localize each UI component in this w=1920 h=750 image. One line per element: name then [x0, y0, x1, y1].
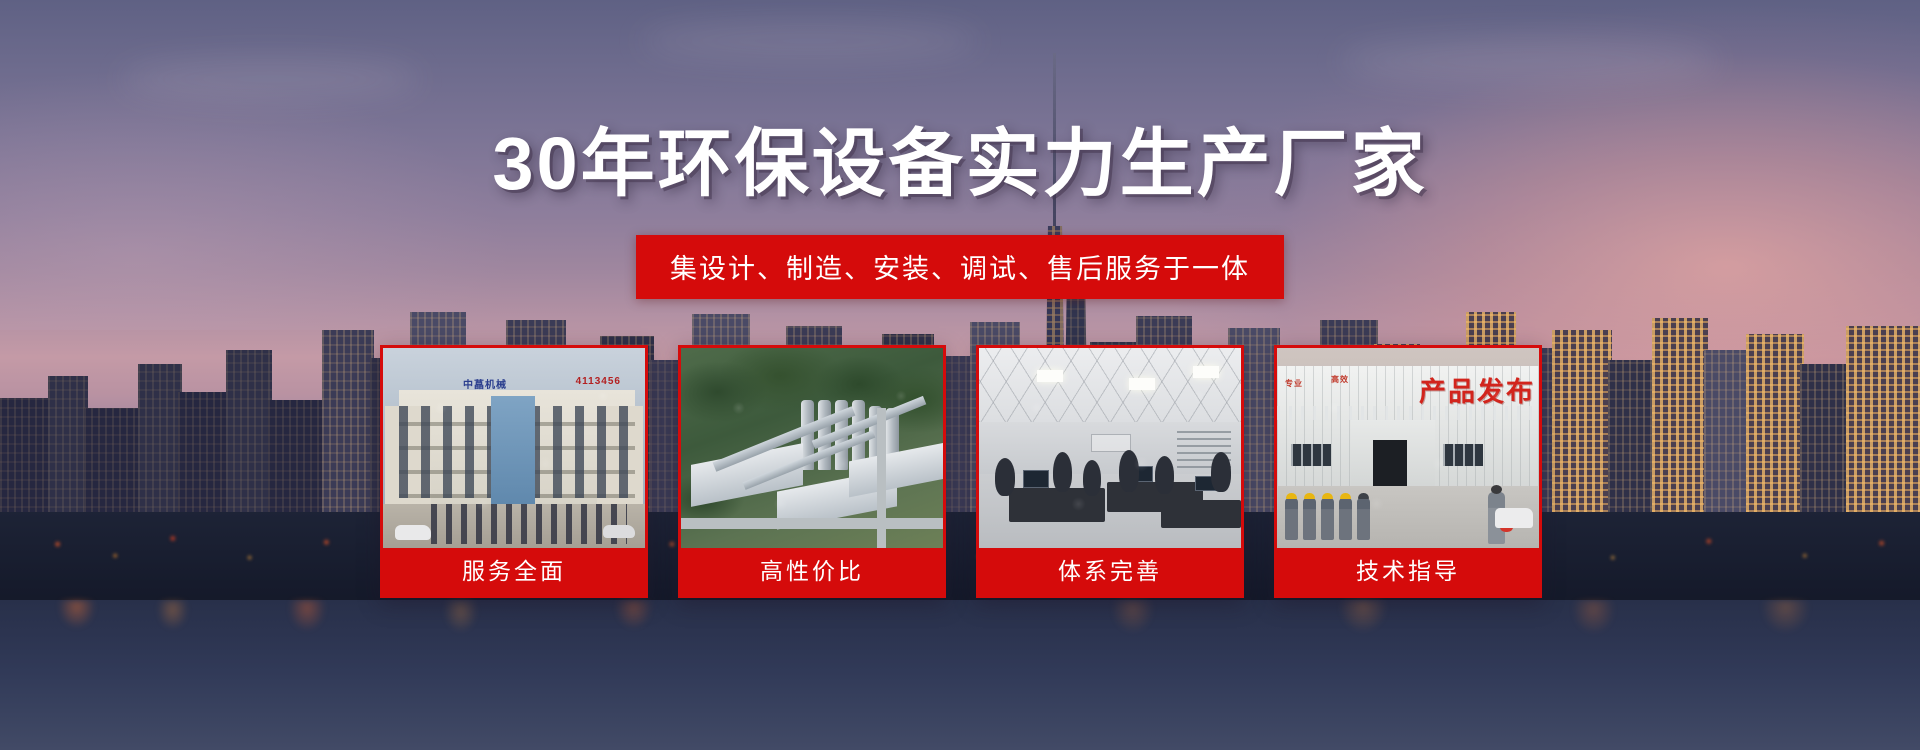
feature-card-service[interactable]: 中蕌机械 4113456 服务全面 — [380, 345, 648, 598]
cloud-1 — [120, 58, 420, 100]
card-thumbnail-plant-aerial — [681, 348, 943, 548]
cloud-3 — [640, 22, 980, 60]
cloud-2 — [1340, 36, 1720, 86]
feature-card-guidance[interactable]: 专业 高效 产品发布 技术指导 — [1274, 345, 1542, 598]
hero-banner: 30年环保设备实力生产厂家 集设计、制造、安装、调试、售后服务于一体 中蕌机械 … — [0, 0, 1920, 750]
card-caption: 服务全面 — [383, 548, 645, 595]
card-thumbnail-factory-exterior: 专业 高效 产品发布 — [1277, 348, 1539, 548]
water-reflections — [0, 600, 1920, 670]
feature-card-system[interactable]: 体系完善 — [976, 345, 1244, 598]
factory-wall-text: 产品发布 — [1419, 370, 1535, 409]
subtitle-banner: 集设计、制造、安装、调试、售后服务于一体 — [636, 235, 1284, 299]
factory-slogan-left: 专业 — [1285, 378, 1303, 389]
page-title: 30年环保设备实力生产厂家 — [0, 104, 1920, 211]
card-caption: 高性价比 — [681, 548, 943, 595]
subtitle-wrap: 集设计、制造、安装、调试、售后服务于一体 — [0, 235, 1920, 299]
card-thumbnail-office-building: 中蕌机械 4113456 — [383, 348, 645, 548]
card-caption: 技术指导 — [1277, 548, 1539, 595]
building-sign-text: 中蕌机械 — [463, 376, 507, 391]
card-thumbnail-office-interior — [979, 348, 1241, 548]
feature-card-value[interactable]: 高性价比 — [678, 345, 946, 598]
card-caption: 体系完善 — [979, 548, 1241, 595]
factory-slogan-mid: 高效 — [1331, 374, 1349, 385]
feature-card-list: 中蕌机械 4113456 服务全面 — [380, 345, 1542, 598]
building-phone-text: 4113456 — [576, 376, 621, 387]
